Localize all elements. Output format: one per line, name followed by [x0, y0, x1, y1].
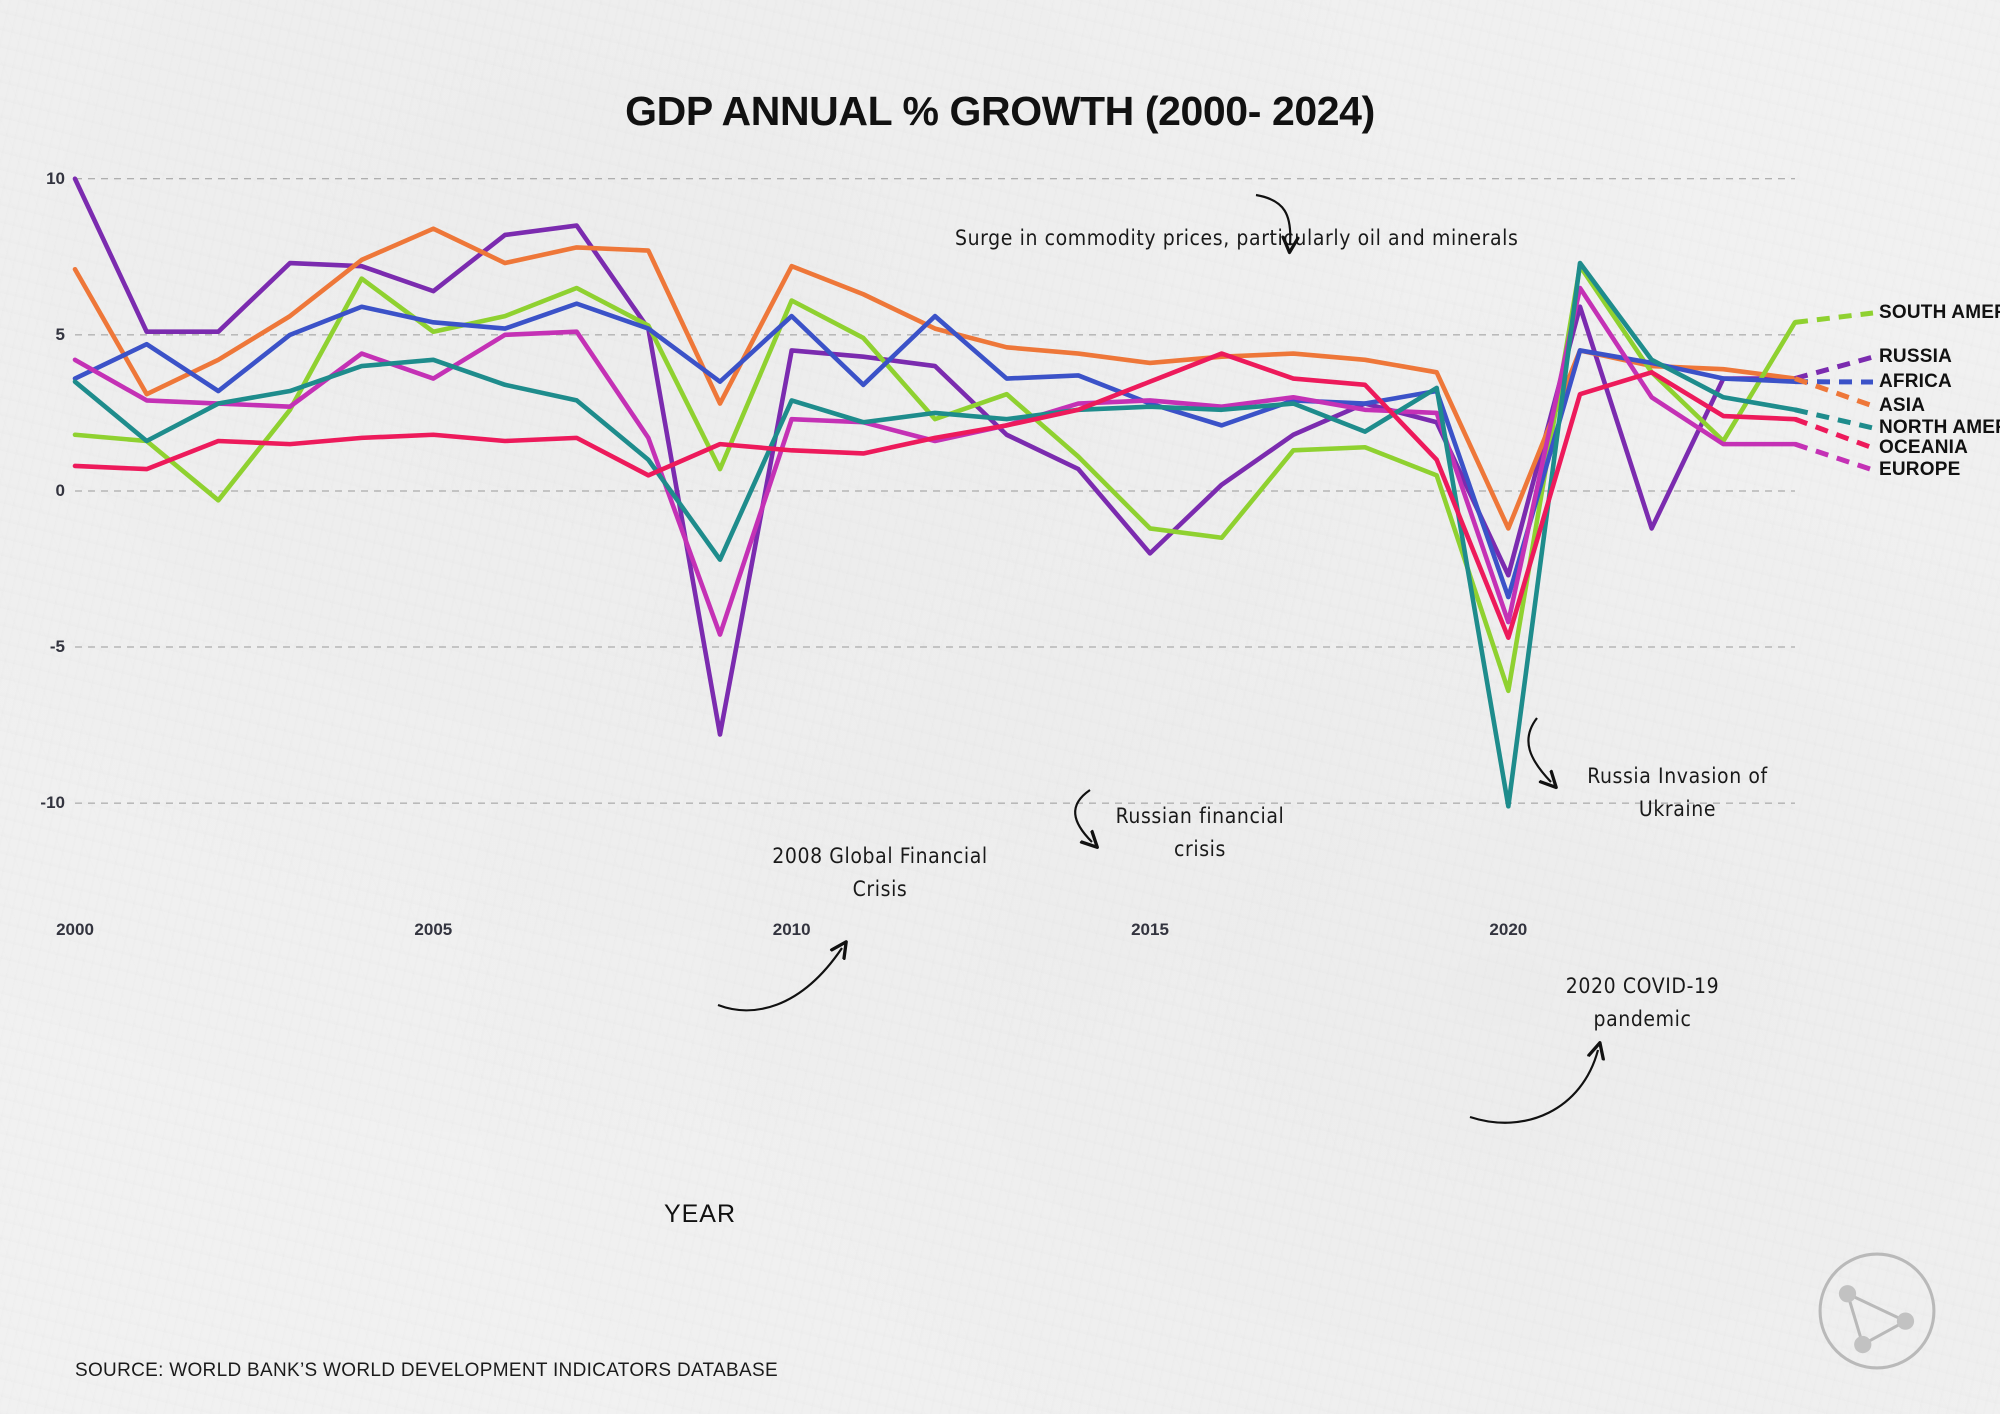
- legend-label-europe: EUROPE: [1879, 459, 1960, 481]
- annotation-russian-financial-crisis: Russian financial crisis: [1110, 800, 1290, 865]
- legend-connector-europe: [1795, 444, 1873, 470]
- series-line-africa: [75, 304, 1795, 597]
- plot-area: 1050-5-10 20002005201020152020 SOUTH AME…: [75, 160, 1795, 850]
- legend-connector-russia: [1795, 357, 1873, 379]
- legend-label-africa: AFRICA: [1879, 371, 1952, 393]
- x-tick-label: 2005: [388, 920, 478, 940]
- legend-label-asia: ASIA: [1879, 395, 1925, 417]
- legend-label-north-america: NORTH AMERICA: [1879, 417, 2000, 439]
- y-tick-label: 5: [13, 325, 65, 345]
- x-tick-label: 2000: [30, 920, 120, 940]
- chart-title: GDP ANNUAL % GROWTH (2000- 2024): [0, 88, 2000, 135]
- source-note: SOURCE: WORLD BANK’S WORLD DEVELOPMENT I…: [75, 1360, 778, 1382]
- legend-label-south-america: SOUTH AMERICA: [1879, 302, 2000, 324]
- legend-label-russia: RUSSIA: [1879, 346, 1952, 368]
- legend-label-oceania: OCEANIA: [1879, 437, 1968, 459]
- annotation-commodity-prices: Surge in commodity prices, particularly …: [955, 222, 1518, 255]
- arrow-gfc: [718, 948, 842, 1010]
- y-tick-label: -5: [13, 637, 65, 657]
- x-tick-label: 2015: [1105, 920, 1195, 940]
- x-axis-title: YEAR: [0, 1200, 1400, 1229]
- x-tick-label: 2020: [1463, 920, 1553, 940]
- line-chart-canvas: [75, 160, 1795, 850]
- legend-connector-south-america: [1795, 313, 1873, 322]
- annotation-global-financial-crisis: 2008 Global Financial Crisis: [765, 840, 995, 905]
- y-tick-label: 0: [13, 481, 65, 501]
- arrow-covid: [1470, 1050, 1598, 1123]
- annotation-covid-pandemic: 2020 COVID-19 pandemic: [1550, 970, 1735, 1035]
- annotation-russia-invasion-ukraine: Russia Invasion of Ukraine: [1570, 760, 1785, 825]
- y-tick-label: 10: [13, 169, 65, 189]
- logo-icon: [1816, 1250, 1938, 1372]
- legend-connector-north-america: [1795, 410, 1873, 428]
- x-tick-label: 2010: [747, 920, 837, 940]
- y-tick-label: -10: [13, 793, 65, 813]
